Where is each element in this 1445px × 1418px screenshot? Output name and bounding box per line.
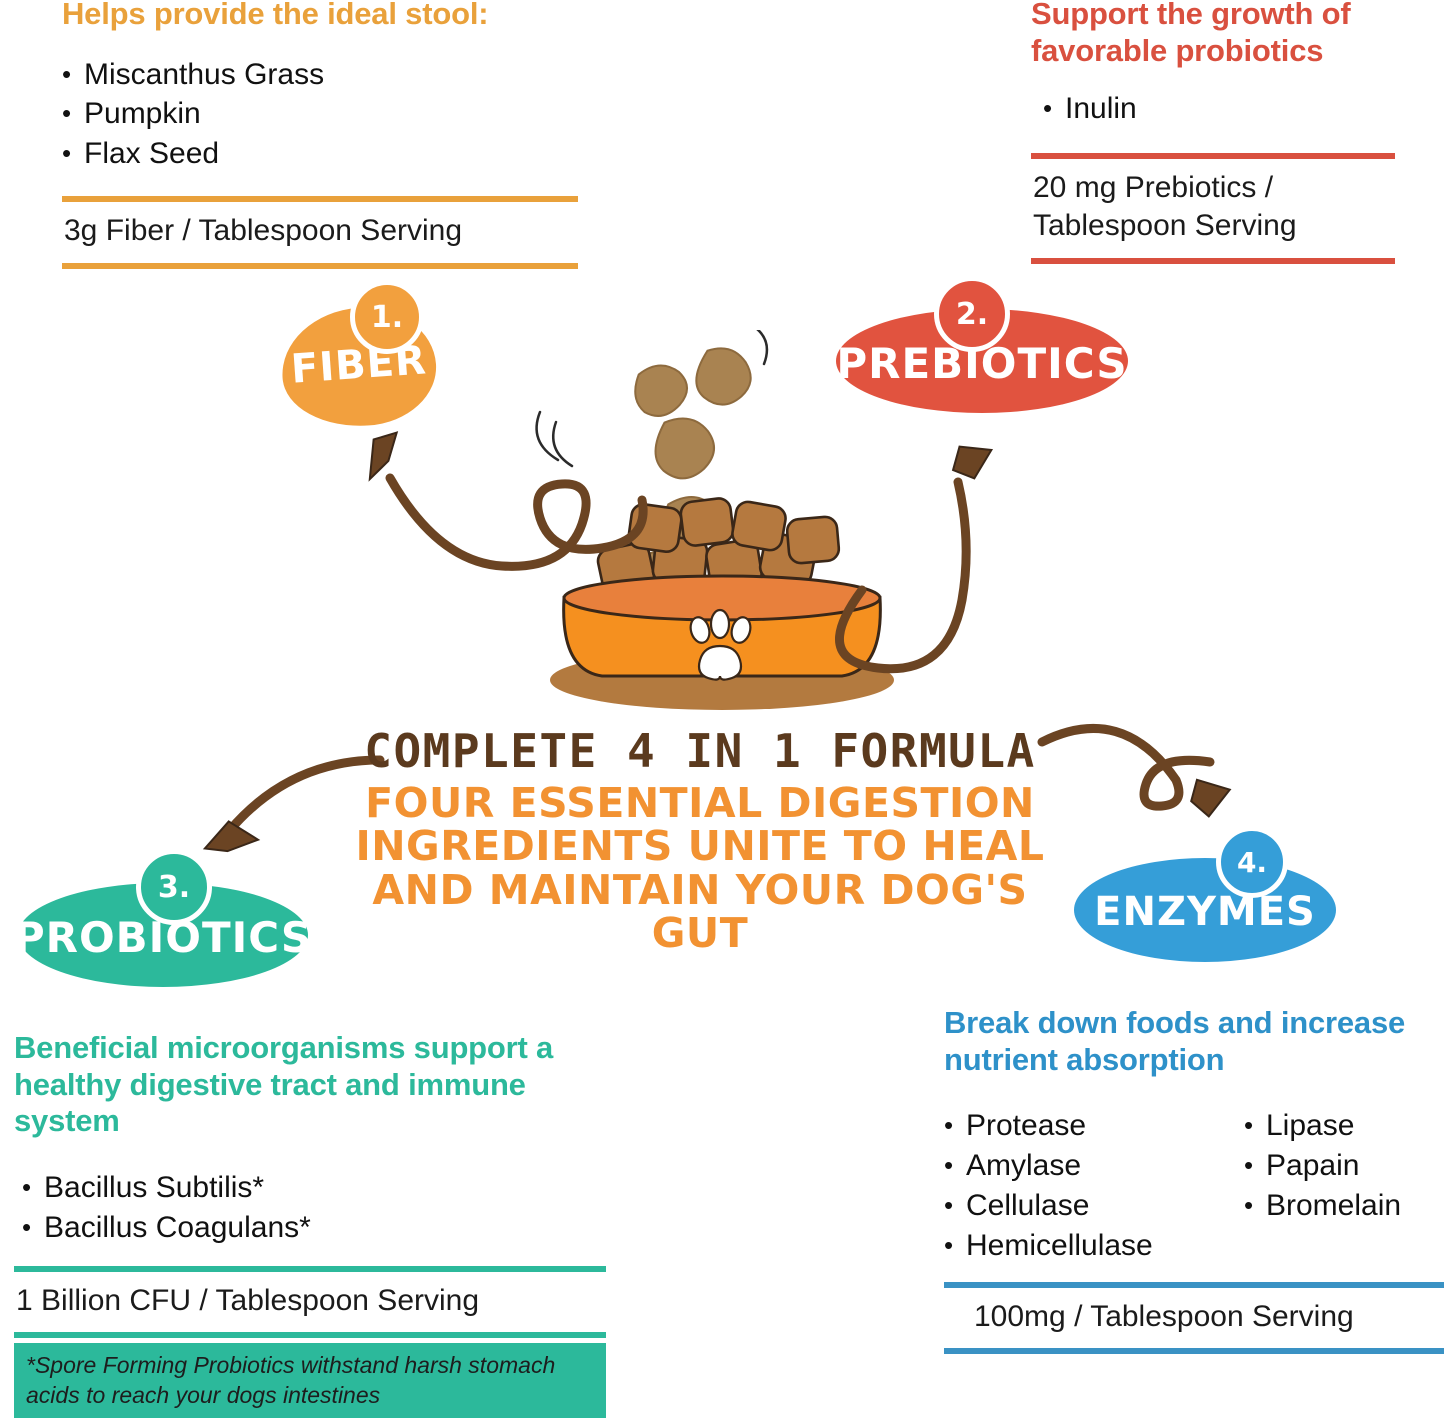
- enzymes-blob-shape: ENZYMES: [1074, 858, 1336, 962]
- hero-subtitle-line-3: AND MAINTAIN YOUR DOG'S GUT: [330, 869, 1070, 956]
- badge-fiber-number: 1.: [350, 280, 424, 354]
- list-item: Bromelain: [1244, 1186, 1401, 1226]
- list-item: Protease: [944, 1106, 1244, 1146]
- badge-probiotics[interactable]: PROBIOTICS 3.: [18, 855, 308, 987]
- enzymes-list-left: Protease Amylase Cellulase Hemicellulase: [944, 1106, 1244, 1266]
- list-item: Papain: [1244, 1146, 1401, 1186]
- list-item: Inulin: [1043, 89, 1395, 129]
- hero-subtitle-line-1: FOUR ESSENTIAL DIGESTION: [330, 782, 1070, 825]
- hero-title: COMPLETE 4 IN 1 FORMULA: [330, 728, 1070, 774]
- list-item: Bacillus Coagulans*: [22, 1208, 606, 1248]
- fiber-rule-bottom: [62, 263, 578, 269]
- badge-prebiotics-number: 2.: [934, 276, 1010, 352]
- enzymes-section: Break down foods and increase nutrient a…: [944, 1005, 1444, 1354]
- enzymes-serving-text: 100mg / Tablespoon Serving: [944, 1288, 1444, 1348]
- infographic-canvas: Helps provide the ideal stool: Miscanthu…: [0, 0, 1445, 1418]
- hero-subtitle-line-2: INGREDIENTS UNITE TO HEAL: [330, 825, 1070, 868]
- prebiotics-section: Support the growth of favorable probioti…: [1031, 0, 1395, 264]
- probiotics-footnote: *Spore Forming Probiotics withstand hars…: [14, 1343, 606, 1418]
- enzymes-list-right: Lipase Papain Bromelain: [1244, 1106, 1401, 1266]
- arrowhead-enzymes: [1189, 779, 1230, 819]
- list-item: Lipase: [1244, 1106, 1401, 1146]
- enzymes-heading: Break down foods and increase nutrient a…: [944, 1005, 1444, 1078]
- fiber-serving-text: 3g Fiber / Tablespoon Serving: [62, 202, 578, 262]
- probiotics-section: Beneficial microorganisms support a heal…: [14, 1030, 606, 1418]
- badge-enzymes-label: ENZYMES: [1094, 889, 1316, 935]
- arrowhead-prebiotics: [952, 446, 991, 480]
- probiotics-serving-text: 1 Billion CFU / Tablespoon Serving: [14, 1272, 606, 1332]
- fiber-section: Helps provide the ideal stool: Miscanthu…: [62, 0, 578, 269]
- probiotics-heading: Beneficial microorganisms support a heal…: [14, 1030, 606, 1140]
- prebiotics-heading: Support the growth of favorable probioti…: [1031, 0, 1395, 69]
- list-item: Amylase: [944, 1146, 1244, 1186]
- list-item: Flax Seed: [62, 134, 578, 174]
- badge-fiber[interactable]: FIBER 1.: [282, 286, 452, 426]
- fiber-ingredient-list: Miscanthus Grass Pumpkin Flax Seed: [62, 55, 578, 175]
- badge-enzymes-number: 4.: [1216, 826, 1288, 898]
- fiber-heading: Helps provide the ideal stool:: [62, 0, 578, 33]
- list-item: Hemicellulase: [944, 1226, 1244, 1266]
- list-item: Miscanthus Grass: [62, 55, 578, 95]
- probiotics-ingredient-list: Bacillus Subtilis* Bacillus Coagulans*: [22, 1168, 606, 1248]
- hero-text-block: COMPLETE 4 IN 1 FORMULA FOUR ESSENTIAL D…: [330, 728, 1070, 956]
- probiotics-rule-bottom: [14, 1332, 606, 1338]
- prebiotics-serving-text: 20 mg Prebiotics / Tablespoon Serving: [1031, 159, 1395, 258]
- arrowhead-fiber: [361, 433, 405, 480]
- dog-bowl-illustration: [512, 330, 932, 720]
- hero-subtitle: FOUR ESSENTIAL DIGESTION INGREDIENTS UNI…: [330, 782, 1070, 956]
- enzymes-rule-bottom: [944, 1348, 1444, 1354]
- list-item: Cellulase: [944, 1186, 1244, 1226]
- enzymes-ingredient-columns: Protease Amylase Cellulase Hemicellulase…: [944, 1106, 1444, 1266]
- badge-enzymes[interactable]: ENZYMES 4.: [1074, 832, 1336, 962]
- prebiotics-ingredient-list: Inulin: [1043, 89, 1395, 129]
- prebiotics-rule-bottom: [1031, 258, 1395, 264]
- badge-probiotics-number: 3.: [136, 849, 212, 925]
- list-item: Pumpkin: [62, 94, 578, 134]
- list-item: Bacillus Subtilis*: [22, 1168, 606, 1208]
